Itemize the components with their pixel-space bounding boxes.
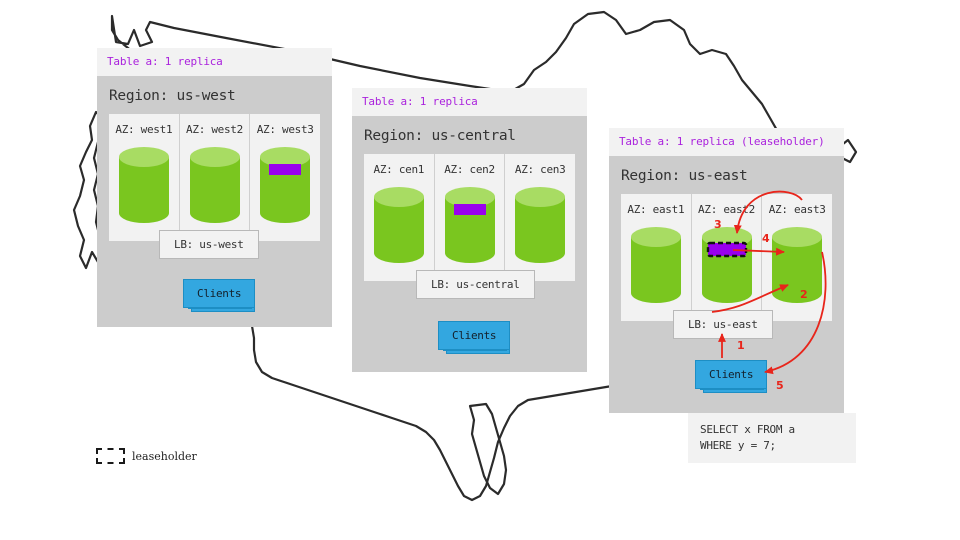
- region-label-us-east: Region: us-east: [609, 156, 844, 194]
- flow-step-number-1: 1: [737, 339, 745, 352]
- panel-title-us-east: Table a: 1 replica (leaseholder): [609, 128, 844, 156]
- az-label-east1: AZ: east1: [627, 203, 684, 216]
- clients-label-us-west: Clients: [183, 279, 255, 308]
- az-label-cen2: AZ: cen2: [444, 163, 495, 176]
- replica-block-leaseholder-icon: [708, 243, 746, 256]
- flow-step-number-4: 4: [762, 232, 770, 245]
- az-label-west1: AZ: west1: [115, 123, 172, 136]
- az-row-us-central: AZ: cen1 AZ: cen2: [364, 154, 575, 281]
- clients-us-central[interactable]: Clients: [438, 321, 510, 350]
- az-cell-west2[interactable]: AZ: west2: [180, 114, 251, 241]
- load-balancer-us-central[interactable]: LB: us-central: [416, 270, 535, 299]
- clients-us-west[interactable]: Clients: [183, 279, 255, 308]
- flow-step-number-5: 5: [776, 379, 784, 392]
- region-panel-us-west: Table a: 1 replica Region: us-west AZ: w…: [97, 48, 332, 327]
- region-panel-us-east: Table a: 1 replica (leaseholder) Region:…: [609, 128, 844, 413]
- legend: leaseholder: [96, 448, 197, 464]
- load-balancer-us-east[interactable]: LB: us-east: [673, 310, 773, 339]
- region-label-us-west: Region: us-west: [97, 76, 332, 114]
- diagram-canvas: Table a: 1 replica Region: us-west AZ: w…: [0, 0, 960, 540]
- panel-title-us-central: Table a: 1 replica: [352, 88, 587, 116]
- clients-us-east[interactable]: Clients: [695, 360, 767, 389]
- cylinder-icon: [188, 145, 242, 225]
- dashed-rect-icon: [96, 448, 125, 464]
- region-panel-us-central: Table a: 1 replica Region: us-central AZ…: [352, 88, 587, 372]
- az-cell-cen1[interactable]: AZ: cen1: [364, 154, 435, 281]
- az-label-east2: AZ: east2: [698, 203, 755, 216]
- az-cell-east3[interactable]: AZ: east3: [762, 194, 832, 321]
- cylinder-icon: [117, 145, 171, 225]
- sql-query-box: SELECT x FROM a WHERE y = 7;: [688, 413, 856, 463]
- node-cylinder-west2[interactable]: [188, 145, 242, 229]
- panel-title-us-west: Table a: 1 replica: [97, 48, 332, 76]
- az-label-west3: AZ: west3: [257, 123, 314, 136]
- node-cylinder-cen2[interactable]: [443, 185, 497, 269]
- node-cylinder-east1[interactable]: [629, 225, 683, 309]
- az-cell-east1[interactable]: AZ: east1: [621, 194, 692, 321]
- az-label-cen3: AZ: cen3: [515, 163, 566, 176]
- replica-block-icon: [269, 164, 301, 175]
- cylinder-icon: [372, 185, 426, 265]
- az-cell-cen3[interactable]: AZ: cen3: [505, 154, 575, 281]
- load-balancer-us-west[interactable]: LB: us-west: [159, 230, 259, 259]
- cylinder-icon: [700, 225, 754, 305]
- node-cylinder-east2[interactable]: [700, 225, 754, 309]
- node-cylinder-west3[interactable]: [258, 145, 312, 229]
- az-label-east3: AZ: east3: [769, 203, 826, 216]
- az-cell-cen2[interactable]: AZ: cen2: [435, 154, 506, 281]
- az-label-west2: AZ: west2: [186, 123, 243, 136]
- region-label-us-central: Region: us-central: [352, 116, 587, 154]
- az-cell-west3[interactable]: AZ: west3: [250, 114, 320, 241]
- cylinder-icon: [770, 225, 824, 305]
- az-label-cen1: AZ: cen1: [374, 163, 425, 176]
- cylinder-icon: [513, 185, 567, 265]
- clients-label-us-central: Clients: [438, 321, 510, 350]
- cylinder-icon: [629, 225, 683, 305]
- legend-label: leaseholder: [132, 450, 197, 463]
- cylinder-icon: [443, 185, 497, 265]
- az-row-us-west: AZ: west1 AZ: west2 AZ: [109, 114, 320, 241]
- node-cylinder-cen3[interactable]: [513, 185, 567, 269]
- flow-step-number-2: 2: [800, 288, 808, 301]
- flow-step-number-3: 3: [714, 218, 722, 231]
- clients-label-us-east: Clients: [695, 360, 767, 389]
- cylinder-icon: [258, 145, 312, 225]
- az-cell-east2[interactable]: AZ: east2: [692, 194, 763, 321]
- az-cell-west1[interactable]: AZ: west1: [109, 114, 180, 241]
- replica-block-icon: [454, 204, 486, 215]
- az-row-us-east: AZ: east1 AZ: east2: [621, 194, 832, 321]
- node-cylinder-west1[interactable]: [117, 145, 171, 229]
- node-cylinder-cen1[interactable]: [372, 185, 426, 269]
- node-cylinder-east3[interactable]: [770, 225, 824, 309]
